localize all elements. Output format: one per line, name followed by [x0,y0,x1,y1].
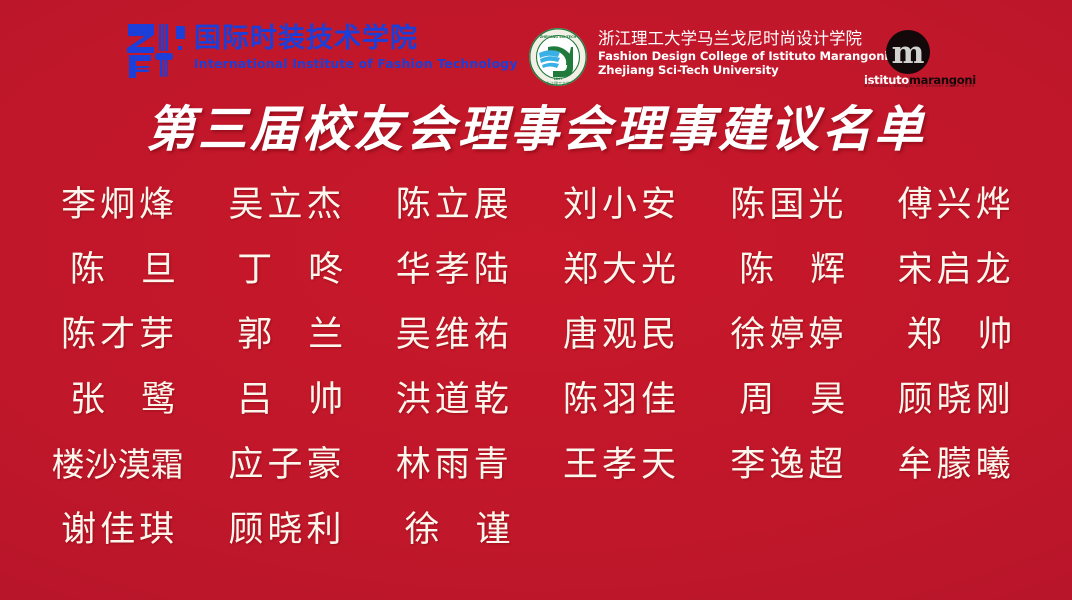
roster-row: 张鹭 吕帅 洪道乾 陈羽佳 周昊 顾晓刚 [34,367,1038,432]
roster-row: 李炯烽 吴立杰 陈立展 刘小安 陈国光 傅兴烨 [34,172,1038,237]
roster-name: 林雨青 [369,442,536,488]
roster-name: 洪道乾 [369,377,536,423]
header-logo-bar: 国际时装技术学院 International Institute of Fash… [0,0,1072,96]
roster-row: 楼沙漠霜 应子豪 林雨青 王孝天 李逸超 牟朦曦 [34,432,1038,497]
roster-name: 牟朦曦 [870,442,1037,488]
svg-text:ZHEJIANG SCI-TECH: ZHEJIANG SCI-TECH [540,35,577,39]
roster-name: 王孝天 [536,442,703,488]
roster-grid: 李炯烽 吴立杰 陈立展 刘小安 陈国光 傅兴烨 陈旦 丁咚 华孝陆 郑大光 陈辉… [34,172,1038,562]
roster-name: 吕帅 [201,377,368,423]
roster-name: 李逸超 [703,442,870,488]
svg-text:浙江理工大学: 浙江理工大学 [546,80,570,86]
zift-chinese-name: 国际时装技术学院 [194,23,466,55]
roster-name: 陈国光 [703,182,870,228]
roster-name: 徐婷婷 [703,312,870,358]
roster-name: 傅兴烨 [870,182,1037,228]
roster-name: 丁咚 [201,247,368,293]
roster-name: 徐谨 [369,507,536,553]
zstu-emblem-icon: ZHEJIANG SCI-TECH 1897 浙江理工大学 [528,27,588,87]
roster-name: 陈辉 [703,247,870,293]
marangoni-tagline: a fashion, design, art school since 1935 [864,84,972,89]
roster-name: 陈才芽 [34,312,201,358]
roster-name: 应子豪 [201,442,368,488]
zstu-chinese-name: 浙江理工大学马兰戈尼时尚设计学院 [598,29,860,49]
roster-name: 郑大光 [536,247,703,293]
roster-name: 谢佳琪 [34,507,201,553]
zstu-english-line-2: Zhejiang Sci-Tech University [598,63,860,77]
roster-name: 李炯烽 [34,182,201,228]
roster-name: 陈立展 [369,182,536,228]
roster-name: 周昊 [703,377,870,423]
istituto-marangoni-logo: m istitutomarangoni a fashion, design, a… [864,30,972,88]
roster-name: 顾晓刚 [870,377,1037,423]
zift-monogram-icon [126,22,188,78]
zstu-logo: ZHEJIANG SCI-TECH 1897 浙江理工大学 浙江理工大学马兰戈尼… [528,27,858,89]
roster-name: 郭兰 [201,312,368,358]
roster-name: 陈旦 [34,247,201,293]
roster-row: 陈才芽 郭兰 吴维祐 唐观民 徐婷婷 郑帅 [34,302,1038,367]
roster-name: 吴维祐 [369,312,536,358]
roster-name: 华孝陆 [369,247,536,293]
marangoni-monogram: m [886,30,930,74]
roster-name: 宋启龙 [870,247,1037,293]
zift-english-name: International Institute of Fashion Techn… [194,56,466,72]
slide-canvas: 国际时装技术学院 International Institute of Fash… [0,0,1072,600]
zift-logo: 国际时装技术学院 International Institute of Fash… [126,22,466,84]
zift-text-block: 国际时装技术学院 International Institute of Fash… [194,23,466,72]
roster-name: 郑帅 [870,312,1037,358]
roster-name: 顾晓利 [201,507,368,553]
roster-name: 张鹭 [34,377,201,423]
roster-name: 楼沙漠霜 [34,442,201,488]
page-title: 第三届校友会理事会理事建议名单 [0,98,1072,160]
roster-row: 谢佳琪 顾晓利 徐谨 [34,497,1038,562]
roster-name: 陈羽佳 [536,377,703,423]
roster-name: 唐观民 [536,312,703,358]
roster-name: 吴立杰 [201,182,368,228]
roster-row: 陈旦 丁咚 华孝陆 郑大光 陈辉 宋启龙 [34,237,1038,302]
zstu-text-block: 浙江理工大学马兰戈尼时尚设计学院 Fashion Design College … [598,29,860,77]
roster-name: 刘小安 [536,182,703,228]
zstu-english-line-1: Fashion Design College of Istituto Maran… [598,49,860,63]
